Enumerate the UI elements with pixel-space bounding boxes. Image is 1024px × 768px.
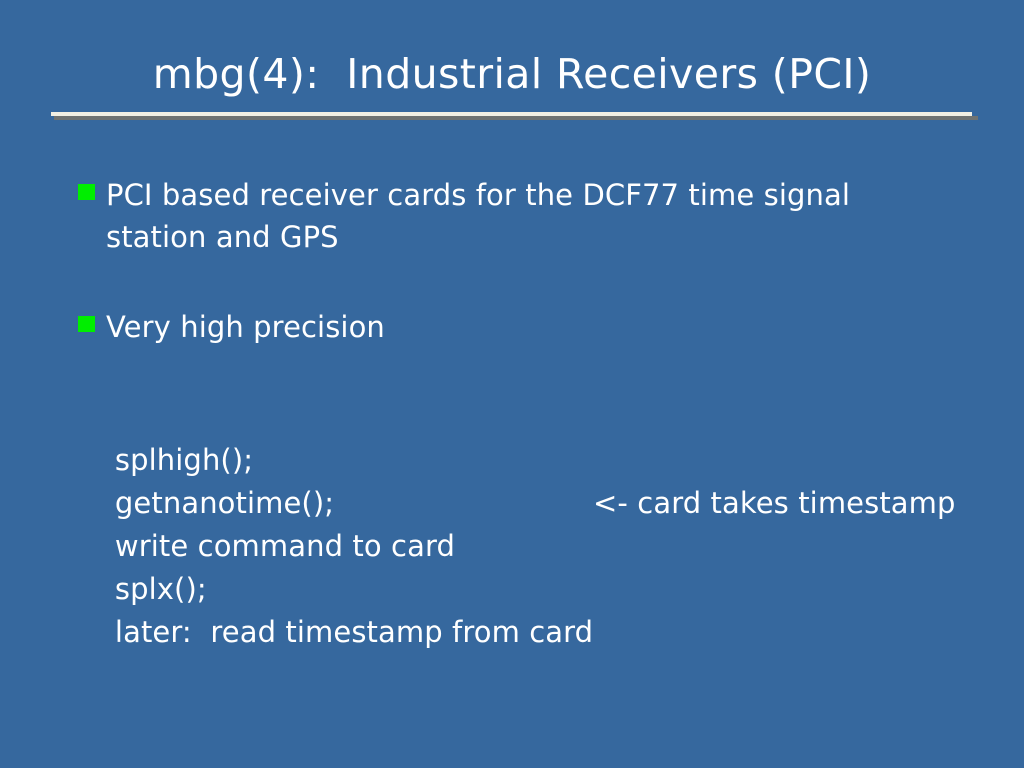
list-item: PCI based receiver cards for the DCF77 t…: [78, 174, 936, 258]
code-line: splhigh();: [59, 396, 999, 439]
code-line: later: read timestamp from card: [59, 568, 999, 611]
code-line: getnanotime();: [59, 439, 999, 482]
code-line: splx();: [59, 525, 999, 568]
list-item-label: PCI based receiver cards for the DCF77 t…: [106, 174, 936, 258]
code-line: write command to card <- card takes time…: [59, 482, 999, 525]
title-divider-shadow: [54, 116, 978, 120]
title-block: mbg(4): Industrial Receivers (PCI): [0, 48, 1024, 100]
code-block: splhigh(); getnanotime(); write command …: [59, 396, 999, 611]
presentation-slide: mbg(4): Industrial Receivers (PCI) PCI b…: [0, 0, 1024, 768]
list-item-label: Very high precision: [106, 306, 385, 348]
code-line-text: later: read timestamp from card: [115, 615, 593, 649]
code-line-annotation: <- card takes timestamp: [593, 482, 956, 525]
list-item: Very high precision: [78, 306, 385, 348]
green-square-bullet-icon: [78, 316, 95, 332]
green-square-bullet-icon: [78, 184, 95, 200]
page-title: mbg(4): Industrial Receivers (PCI): [0, 48, 1024, 100]
